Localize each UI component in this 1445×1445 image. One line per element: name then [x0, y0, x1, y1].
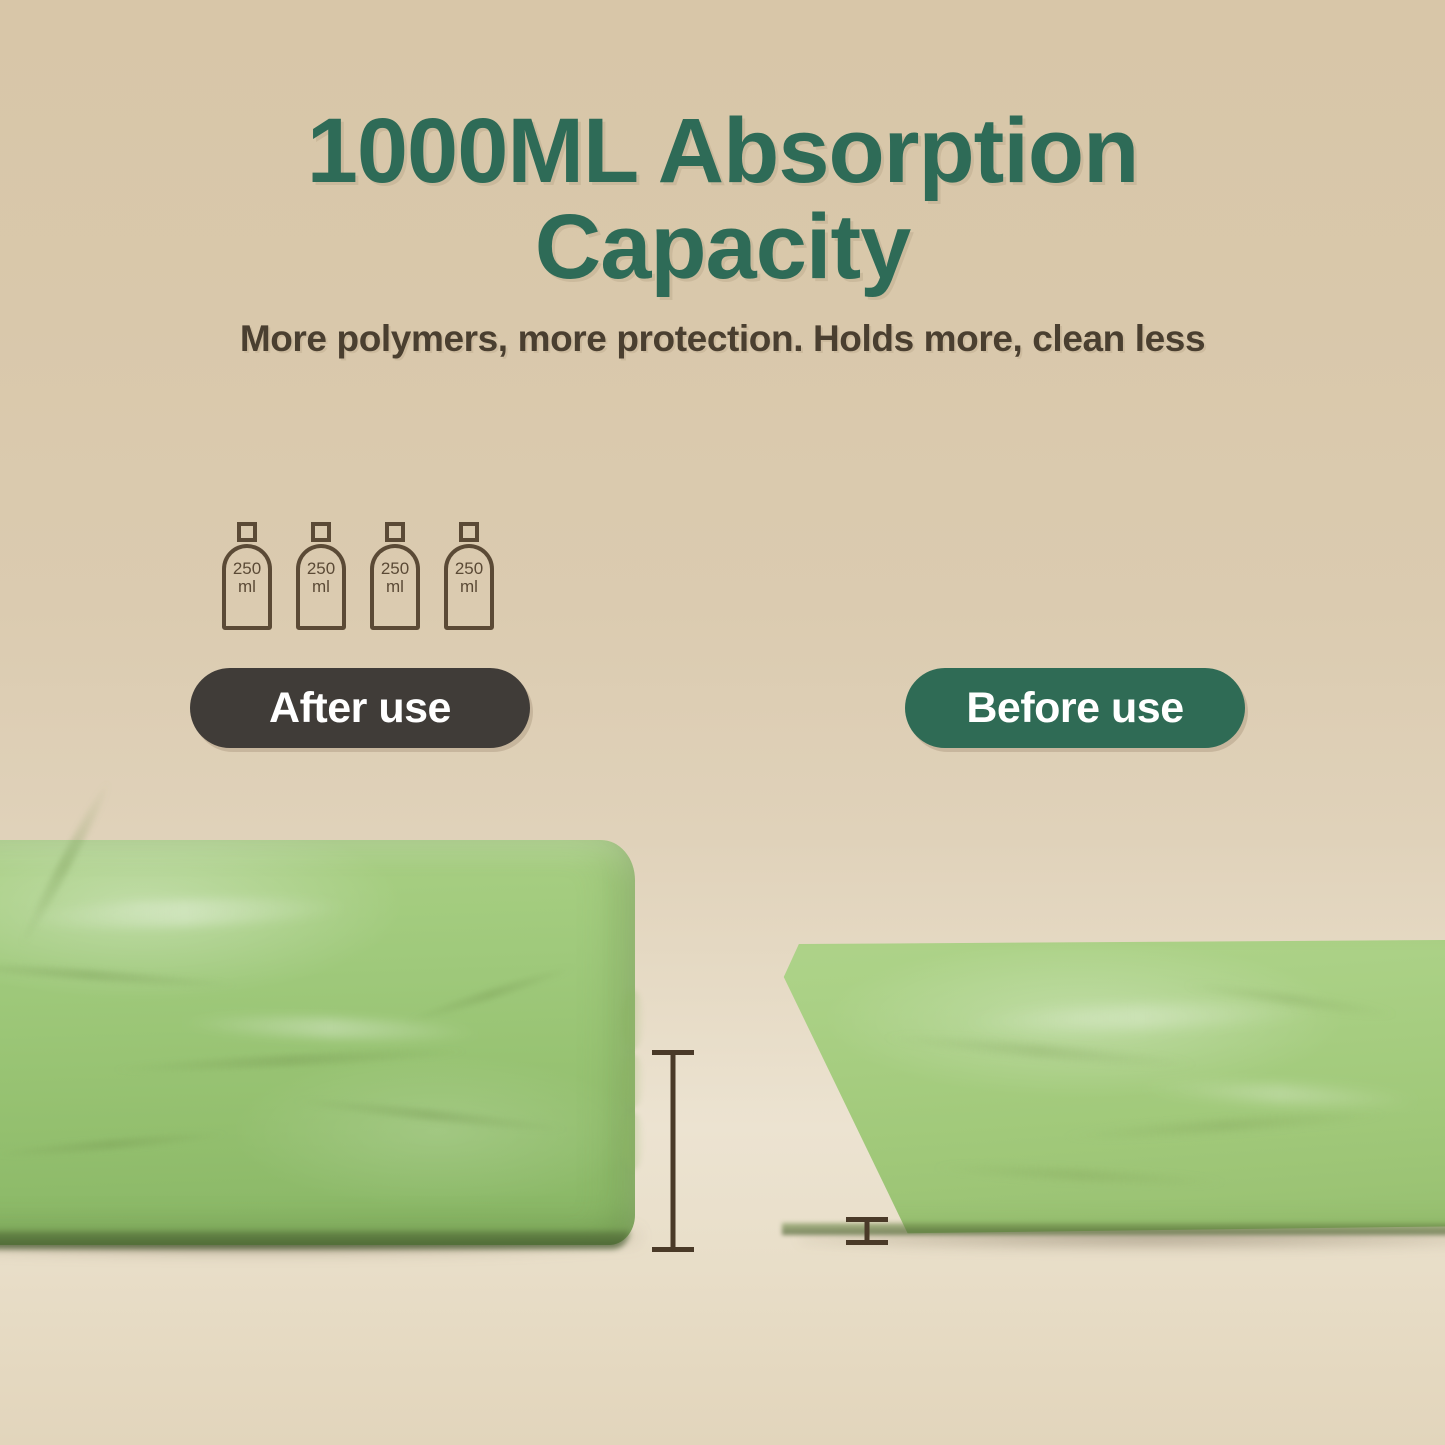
- pad-after-body: [0, 840, 635, 1245]
- caliper-cap-bottom: [652, 1247, 694, 1252]
- caliper-stem: [671, 1053, 676, 1249]
- bottle-cap-icon: [311, 522, 331, 542]
- pad-after-contact-edge: [0, 1231, 630, 1249]
- product-comparison-scene: [0, 760, 1445, 1445]
- product-pad-after-use: [0, 840, 670, 1260]
- caliper-cap-bottom: [846, 1240, 888, 1245]
- thickness-caliper-after-use: [652, 1050, 694, 1252]
- badge-after-use: After use: [190, 668, 530, 748]
- bottle-volume-label: 250 ml: [296, 560, 346, 596]
- capacity-bottle-row: 250 ml 250 ml 250 ml 250 ml: [222, 522, 494, 630]
- bottle-volume-label: 250 ml: [444, 560, 494, 596]
- bottle-icon: 250 ml: [444, 522, 494, 630]
- caliper-stem: [865, 1220, 870, 1242]
- thickness-caliper-before-use: [846, 1217, 888, 1245]
- badge-before-use: Before use: [905, 668, 1245, 748]
- page-title: 1000ML Absorption Capacity: [0, 104, 1445, 295]
- bottle-icon: 250 ml: [296, 522, 346, 630]
- bottle-volume-label: 250 ml: [222, 560, 272, 596]
- page-subtitle: More polymers, more protection. Holds mo…: [0, 318, 1445, 360]
- bottle-icon: 250 ml: [370, 522, 420, 630]
- bottle-icon: 250 ml: [222, 522, 272, 630]
- bottle-cap-icon: [459, 522, 479, 542]
- bottle-cap-icon: [385, 522, 405, 542]
- product-infographic: 1000ML Absorption Capacity More polymers…: [0, 0, 1445, 1445]
- pad-before-body: [760, 935, 1445, 1235]
- bottle-volume-label: 250 ml: [370, 560, 420, 596]
- bottle-cap-icon: [237, 522, 257, 542]
